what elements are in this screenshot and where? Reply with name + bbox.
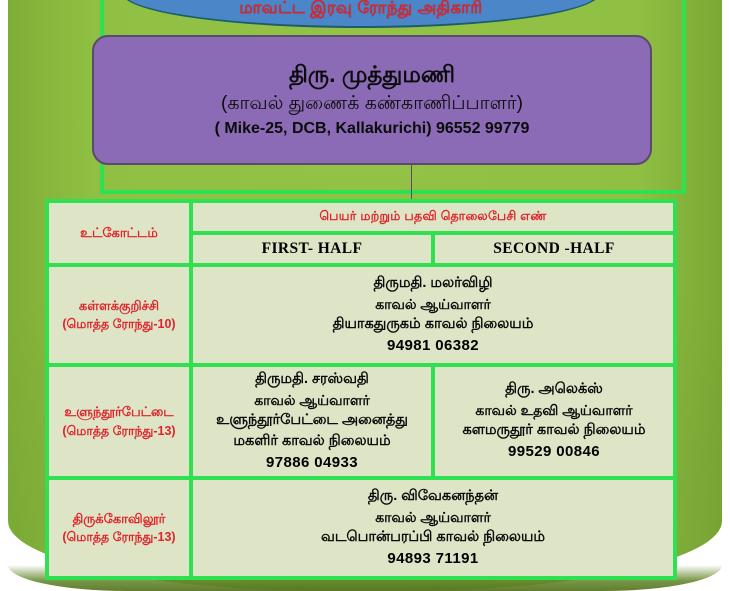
header-second-half-label: SECOND -HALF (493, 240, 615, 258)
entry-phone[interactable]: 97886 04933 (266, 452, 358, 475)
duty-roster-table: உட்கோட்டம் பெயர் மற்றும் பதவி தொலைபேசி எ… (45, 199, 677, 580)
officer-designation: (காவல் துணைக் கண்காணிப்பாளர்) (221, 92, 523, 116)
table-header: உட்கோட்டம் பெயர் மற்றும் பதவி தொலைபேசி எ… (49, 203, 673, 263)
row-entry-cell-first-half: திருமதி. சரஸ்வதி காவல் ஆய்வாளர் உளுந்தூர… (193, 367, 431, 476)
unit-name: உளுந்தூர்பேட்டை (64, 402, 173, 422)
header-group-label: பெயர் மற்றும் பதவி தொலைபேசி எண் (319, 209, 546, 225)
entry-station: தியாகதுருகம் காவல் நிலையம் (333, 314, 534, 335)
entry-phone[interactable]: 94893 71191 (387, 548, 478, 571)
row-entry-cell-second-half: திரு. அலெக்ஸ் காவல் உதவி ஆய்வாளர் களமருத… (435, 367, 673, 476)
header-first-half-cell: FIRST- HALF (193, 235, 431, 263)
entry-name: திருமதி. சரஸ்வதி (255, 369, 369, 390)
entry-name: திரு. அலெக்ஸ் (505, 379, 603, 400)
table-row: உளுந்தூர்பேட்டை (மொத்த ரோந்து-13) திருமத… (49, 367, 673, 476)
unit-name: கள்ளக்குறிச்சி (79, 296, 159, 316)
row-unit-cell: கள்ளக்குறிச்சி (மொத்த ரோந்து-10) (49, 267, 189, 363)
banner-title: மாவட்ட இரவு ரோந்து அதிகாரி (239, 0, 482, 26)
entry-name: திரு. விவேகனந்தன் (368, 486, 498, 507)
entry-phone[interactable]: 94981 06382 (387, 335, 479, 358)
entry-rank: காவல் உதவி ஆய்வாளர் (475, 400, 632, 420)
row-entry-cell: திருமதி. மலர்விழி காவல் ஆய்வாளர் தியாகது… (193, 267, 673, 363)
header-first-half-label: FIRST- HALF (262, 240, 363, 258)
entry-rank: காவல் ஆய்வாளர் (375, 507, 491, 527)
table-row: கள்ளக்குறிச்சி (மொத்த ரோந்து-10) திருமதி… (49, 267, 673, 363)
unit-patrol-count: (மொத்த ரோந்து-13) (62, 528, 175, 547)
unit-name: திருக்கோவிலூர் (73, 509, 166, 529)
header-unit-cell: உட்கோட்டம் (49, 203, 189, 263)
poster-root: மாவட்ட இரவு ரோந்து அதிகாரி திரு. முத்தும… (0, 0, 730, 591)
header-second-half-cell: SECOND -HALF (435, 235, 673, 263)
entry-station: வடபொன்பரப்பி காவல் நிலையம் (321, 527, 545, 548)
entry-rank: காவல் ஆய்வாளர் (375, 294, 491, 314)
header-unit-label: உட்கோட்டம் (80, 223, 158, 243)
entry-rank: காவல் ஆய்வாளர் (254, 390, 370, 410)
officer-card: திரு. முத்துமணி (காவல் துணைக் கண்காணிப்ப… (92, 35, 652, 165)
entry-phone[interactable]: 99529 00846 (508, 441, 600, 464)
entry-station: களமருதூர் காவல் நிலையம் (462, 420, 645, 441)
table-row: திருக்கோவிலூர் (மொத்த ரோந்து-13) திரு. வ… (49, 480, 673, 576)
unit-patrol-count: (மொத்த ரோந்து-13) (62, 422, 175, 441)
officer-name: திரு. முத்துமணி (289, 61, 455, 89)
connector-line (411, 165, 412, 201)
row-unit-cell: உளுந்தூர்பேட்டை (மொத்த ரோந்து-13) (49, 367, 189, 476)
header-group-cell: பெயர் மற்றும் பதவி தொலைபேசி எண் (193, 203, 673, 231)
entry-name: திருமதி. மலர்விழி (374, 273, 493, 294)
header-halves-row: FIRST- HALF SECOND -HALF (193, 235, 673, 263)
row-unit-cell: திருக்கோவிலூர் (மொத்த ரோந்து-13) (49, 480, 189, 576)
unit-patrol-count: (மொத்த ரோந்து-10) (62, 315, 175, 334)
officer-contact: ( Mike-25, DCB, Kallakurichi) 96552 9977… (215, 119, 530, 139)
entry-station: உளுந்தூர்பேட்டை அனைத்து மகளிர் காவல் நில… (193, 410, 431, 452)
header-right-group: பெயர் மற்றும் பதவி தொலைபேசி எண் FIRST- H… (193, 203, 673, 263)
row-entry-cell: திரு. விவேகனந்தன் காவல் ஆய்வாளர் வடபொன்ப… (193, 480, 673, 576)
